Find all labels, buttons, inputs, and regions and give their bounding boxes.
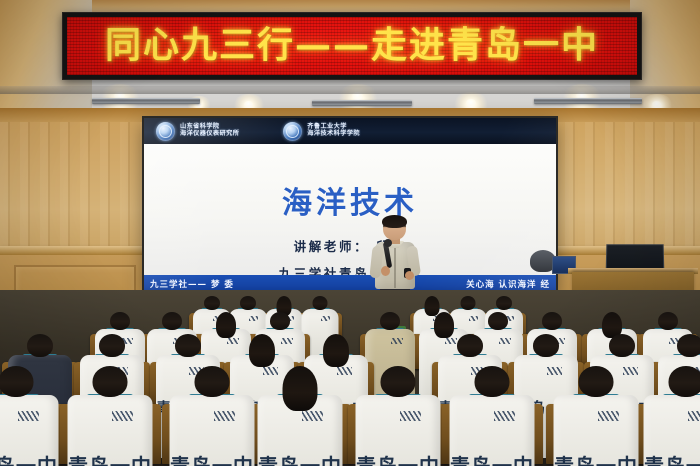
uniform-school-name: 青岛一中 <box>0 450 58 466</box>
uniform-shoulder-emblem <box>112 411 133 421</box>
audience-head <box>99 334 125 357</box>
audience-member: 青岛一中 <box>644 366 700 466</box>
audience-head <box>381 366 416 397</box>
org-right-lines: 齐鲁工业大学 海洋技术科学学院 <box>307 124 360 138</box>
slide-header: 山东省科学院 海洋仪器仪表研究所 齐鲁工业大学 海洋技术科学学院 <box>144 118 556 144</box>
audience-head <box>669 366 700 397</box>
audience-member: 青岛一中 <box>0 366 59 466</box>
uniform-school-name: 青岛一中 <box>68 450 152 466</box>
ceiling-air-vent <box>92 98 200 104</box>
org-left-line2: 海洋仪器仪表研究所 <box>180 131 239 138</box>
ceiling-spotlight-core <box>244 101 253 107</box>
uniform-shoulder-emblem <box>688 411 700 421</box>
led-banner-screen: 同心九三行——走进青岛一中 <box>67 17 637 75</box>
speaker-shirt-placket <box>394 244 396 288</box>
audience-head <box>475 366 510 397</box>
audience-member: 青岛一中 <box>450 366 535 466</box>
audience-head <box>240 296 256 310</box>
audience-head <box>313 296 328 310</box>
audience-head <box>175 334 201 357</box>
audience-head <box>270 312 290 330</box>
audience-head <box>27 334 53 357</box>
audience-member: 青岛一中 <box>554 366 639 466</box>
slide-footer-right-text: 关心海 认识海洋 经 <box>466 278 550 290</box>
slide-footer-left-text: 九三学社—— 梦 委 <box>150 278 234 290</box>
uniform-shoulder-emblem <box>391 338 403 344</box>
audience-head <box>283 366 318 411</box>
uniform-school-name: 青岛一中 <box>644 450 700 466</box>
shandong-academy-seal-icon <box>156 122 175 141</box>
org-right: 齐鲁工业大学 海洋技术科学学院 <box>283 122 360 141</box>
audience-head <box>542 312 562 330</box>
audience-member: 青岛一中 <box>170 366 255 466</box>
org-left-lines: 山东省科学院 海洋仪器仪表研究所 <box>180 124 239 138</box>
audience-head <box>0 366 34 397</box>
uniform-shoulder-emblem <box>302 411 323 421</box>
audience-head <box>110 312 130 330</box>
led-banner-text: 同心九三行——走进青岛一中 <box>105 27 599 63</box>
uniform-school-name: 青岛一中 <box>356 450 440 466</box>
audience-head <box>249 334 275 367</box>
audience-head <box>488 312 508 330</box>
uniform-shoulder-emblem <box>18 411 39 421</box>
ceiling-air-vent <box>534 98 642 104</box>
speaker-right-hand <box>405 271 414 280</box>
uniform-school-name: 青岛一中 <box>554 450 638 466</box>
uniform-school-name: 青岛一中 <box>258 450 342 466</box>
slide-body: 海洋技术 讲解老师： 欣鑫 九三学社青岛 基层委 齐鲁工业大学 学院 <box>144 144 556 275</box>
speaker-hair <box>382 215 407 228</box>
audience-member: 青岛一中 <box>68 366 153 466</box>
led-banner: 同心九三行——走进青岛一中 <box>62 12 642 80</box>
audience-head <box>658 312 678 330</box>
projection-screen: 山东省科学院 海洋仪器仪表研究所 齐鲁工业大学 海洋技术科学学院 海洋技术 讲解… <box>144 118 556 292</box>
audience-head <box>380 312 400 330</box>
ceiling-trim-band <box>0 86 700 94</box>
audience-head <box>677 334 700 357</box>
audience-head <box>533 334 559 357</box>
audience-head <box>579 366 614 397</box>
uniform-shoulder-emblem <box>400 411 421 421</box>
slide-subtitle-line-1: 讲解老师： 欣鑫 <box>144 236 556 255</box>
qilu-university-seal-icon <box>283 122 302 141</box>
uniform-shoulder-emblem <box>214 411 235 421</box>
audience-area: 青岛一中青岛一中青岛一中青岛一中青岛一中青岛一中青岛一中青岛一中青岛一中青岛一中… <box>0 290 700 466</box>
audience-member: 青岛一中 <box>258 366 343 466</box>
speaker-left-hand <box>381 266 390 276</box>
uniform-shoulder-emblem <box>494 411 515 421</box>
wall-ledge-left <box>0 246 152 255</box>
ceiling-spotlight-core <box>652 101 661 107</box>
audience-head <box>496 296 512 310</box>
audience-head <box>609 334 635 357</box>
audience-head <box>323 334 349 367</box>
uniform-school-name: 青岛一中 <box>170 450 254 466</box>
org-left: 山东省科学院 海洋仪器仪表研究所 <box>156 122 239 141</box>
uniform-shoulder-emblem <box>321 316 330 321</box>
org-right-line2: 海洋技术科学学院 <box>307 131 360 138</box>
audience-member: 青岛一中 <box>356 366 441 466</box>
audience-head <box>162 312 182 330</box>
audience-head <box>93 366 128 397</box>
ceiling-air-vent <box>312 100 412 106</box>
audience-head <box>195 366 230 397</box>
audience-head <box>461 296 476 310</box>
auditorium-photo: 同心九三行——走进青岛一中 山东省科学院 海洋仪器仪表研究所 齐鲁工业大学 海洋… <box>0 0 700 466</box>
uniform-shoulder-emblem <box>598 411 619 421</box>
uniform-school-name: 青岛一中 <box>450 450 534 466</box>
audience-head <box>457 334 483 357</box>
ceiling-spotlight-core <box>466 99 476 106</box>
slide-title: 海洋技术 <box>144 178 556 222</box>
audience-head <box>204 296 220 310</box>
microphone-head-icon <box>384 239 392 247</box>
